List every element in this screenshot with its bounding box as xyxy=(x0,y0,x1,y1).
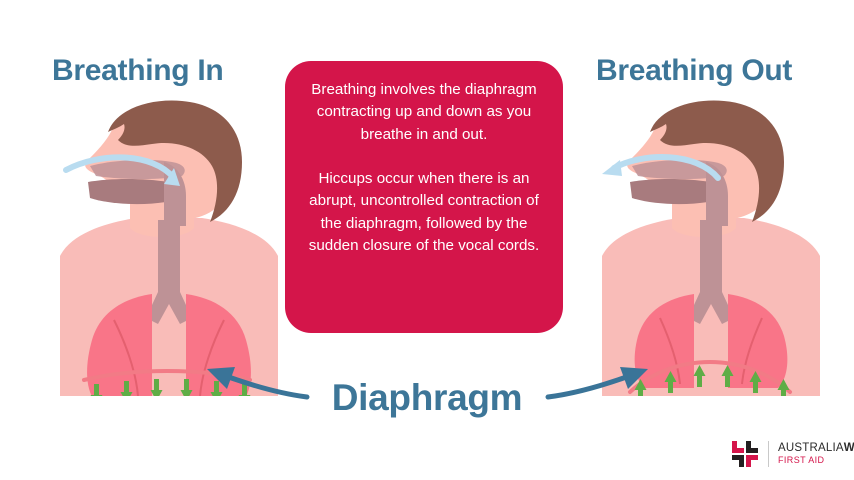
info-card: Breathing involves the diaphragm contrac… xyxy=(285,61,563,333)
logo-word-wide: WIDE xyxy=(844,442,854,454)
pointer-arrow-left xyxy=(205,363,310,403)
heading-breathing-out: Breathing Out xyxy=(596,54,792,88)
logo-tagline: FIRST AID xyxy=(778,455,854,467)
trachea xyxy=(158,220,180,298)
logo-word-australia: AUSTRALIA xyxy=(778,442,844,454)
anatomy-illustration-exhale xyxy=(594,96,824,396)
logo-divider xyxy=(768,441,769,467)
infographic-canvas: Breathing In Breathing Out xyxy=(0,0,854,480)
heading-breathing-in: Breathing In xyxy=(52,54,223,88)
logo-wordmark: AUSTRALIAWIDE xyxy=(778,442,854,455)
pointer-arrow-right xyxy=(545,363,650,403)
anatomy-illustration-inhale xyxy=(52,96,282,396)
oral-cavity xyxy=(630,179,716,204)
figure-breathing-out xyxy=(594,96,824,396)
logo: AUSTRALIAWIDE FIRST AID xyxy=(731,440,854,468)
info-paragraph-2: Hiccups occur when there is an abrupt, u… xyxy=(301,168,547,257)
diaphragm-label: Diaphragm xyxy=(0,377,854,419)
info-paragraph-1: Breathing involves the diaphragm contrac… xyxy=(301,79,547,146)
australia-wide-cross-icon xyxy=(731,440,759,468)
logo-text: AUSTRALIAWIDE FIRST AID xyxy=(778,442,854,467)
figure-breathing-in xyxy=(52,96,282,396)
trachea xyxy=(700,220,722,298)
oral-cavity xyxy=(88,179,174,204)
